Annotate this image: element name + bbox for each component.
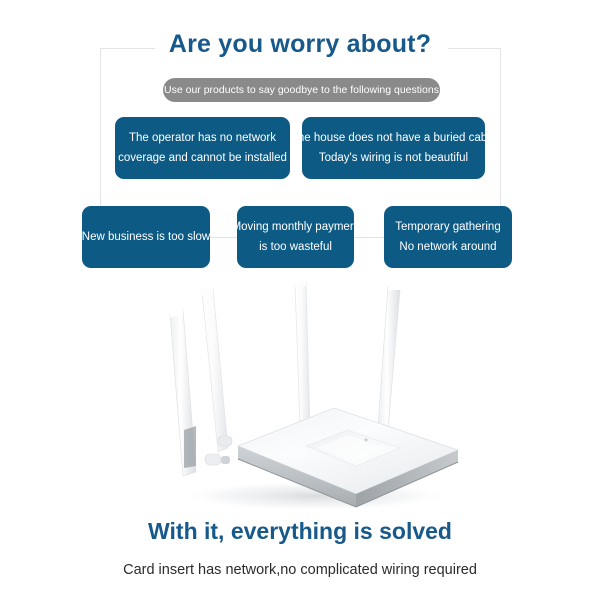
problem-line: Temporary gathering [395,217,500,237]
problem-line: The house does not have a buried cable [291,128,496,148]
problem-line: New business is too slow [82,227,210,247]
frame-line-top-left [100,48,155,49]
frame-line-right [500,48,501,213]
page-title: Are you worry about? [0,30,600,59]
subtitle-pill: Use our products to say goodbye to the f… [163,78,440,102]
promo-banner: Are you worry about? Use our products to… [0,0,600,600]
router-rear-bracket [184,426,196,468]
problem-line: No network around [399,237,496,257]
problem-line: Moving monthly payment [232,217,360,237]
problem-box-buried-cable: The house does not have a buried cable T… [302,117,485,179]
antenna-right [378,284,400,430]
antenna-rear-left [202,287,228,452]
problem-box-operator-coverage: The operator has no network coverage and… [115,117,290,179]
frame-line-top-right [448,48,501,49]
wifi-router-illustration [110,278,490,518]
problem-box-temporary-gathering: Temporary gathering No network around [384,206,512,268]
footer-headline: With it, everything is solved [0,518,600,545]
problem-line: Today's wiring is not beautiful [319,148,468,168]
problem-line: coverage and cannot be installed [118,148,287,168]
problem-box-new-business: New business is too slow [82,206,210,268]
problem-line: is too wasteful [259,237,332,257]
antenna-middle [295,280,310,426]
footer-subline: Card insert has network,no complicated w… [0,562,600,578]
frame-line-left [100,48,101,223]
problem-line: The operator has no network [129,128,276,148]
router-product-image [110,278,490,518]
problem-box-moving-payment: Moving monthly payment is too wasteful [237,206,354,268]
